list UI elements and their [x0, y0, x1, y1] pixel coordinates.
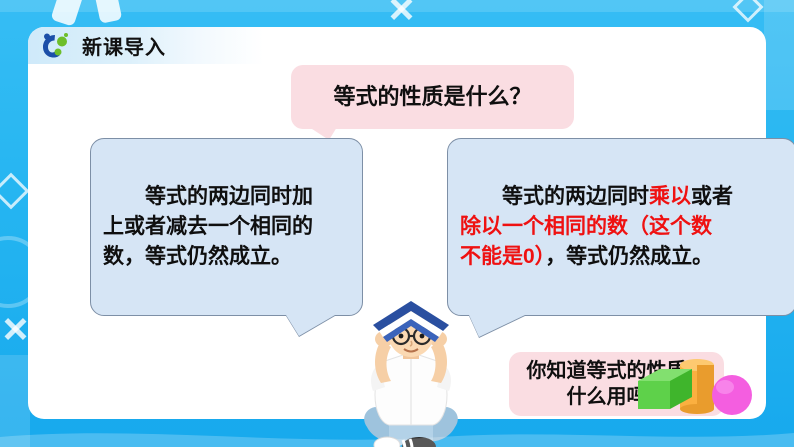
answer-right-line3-plain: ，等式仍然成立。 [545, 245, 713, 268]
geometric-solids-group [634, 359, 760, 417]
pink-sphere-icon [712, 375, 752, 415]
question-bubble-top: 等式的性质是什么？ [291, 65, 574, 129]
page-title: 新课导入 [82, 31, 166, 60]
deco-top-bar-left [50, 0, 85, 27]
bottom-wave-decoration [0, 423, 794, 447]
answer-right-line3: 不能是0），等式仍然成立。 [460, 242, 784, 272]
question-top-text: 等式的性质是什么？ [303, 81, 562, 112]
atom-logo-icon [40, 32, 70, 60]
bubble-body: 等式的两边同时加 上或者减去一个相同的 数，等式仍然成立。 [90, 138, 363, 316]
answer-left-line3: 数，等式仍然成立。 [103, 242, 350, 272]
header: 新课导入 [28, 27, 264, 64]
bubble-body: 等式的性质是什么？ [291, 65, 574, 129]
deco-top-bar-left2 [92, 0, 123, 24]
deco-top-band [0, 0, 794, 12]
answer-bubble-left: 等式的两边同时加 上或者减去一个相同的 数，等式仍然成立。 [90, 138, 363, 316]
answer-bubble-right: 等式的两边同时乘以或者 除以一个相同的数（这个数 不能是0），等式仍然成立。 [447, 138, 794, 316]
answer-right-line1-highlight: 乘以 [649, 185, 691, 208]
deco-diamond-top-right [732, 0, 763, 23]
deco-x-left [2, 316, 28, 342]
answer-right-line1-plain: 等式的两边同时 [502, 185, 649, 208]
deco-right-upper-band [764, 0, 794, 110]
bubble-tail [286, 315, 335, 336]
deco-x-top-center [388, 0, 414, 22]
answer-left-line2: 上或者减去一个相同的 [103, 212, 350, 242]
answer-left-line1: 等式的两边同时加 [103, 182, 350, 212]
content-card: 新课导入 等式的性质是什么？ 等式的两边同时加 上或者减去一个相同的 数，等式仍… [28, 27, 766, 419]
deco-diamond-left [0, 173, 29, 210]
slide-background: 新课导入 等式的性质是什么？ 等式的两边同时加 上或者减去一个相同的 数，等式仍… [0, 0, 794, 447]
answer-right-line3-highlight: 不能是0） [460, 245, 545, 268]
answer-right-line2: 除以一个相同的数（这个数 [460, 212, 784, 242]
bubble-tail [469, 315, 525, 337]
answer-right-line1: 等式的两边同时乘以或者 [460, 182, 784, 212]
answer-right-line1-tail: 或者 [691, 185, 733, 208]
bubble-body: 等式的两边同时乘以或者 除以一个相同的数（这个数 不能是0），等式仍然成立。 [447, 138, 794, 316]
